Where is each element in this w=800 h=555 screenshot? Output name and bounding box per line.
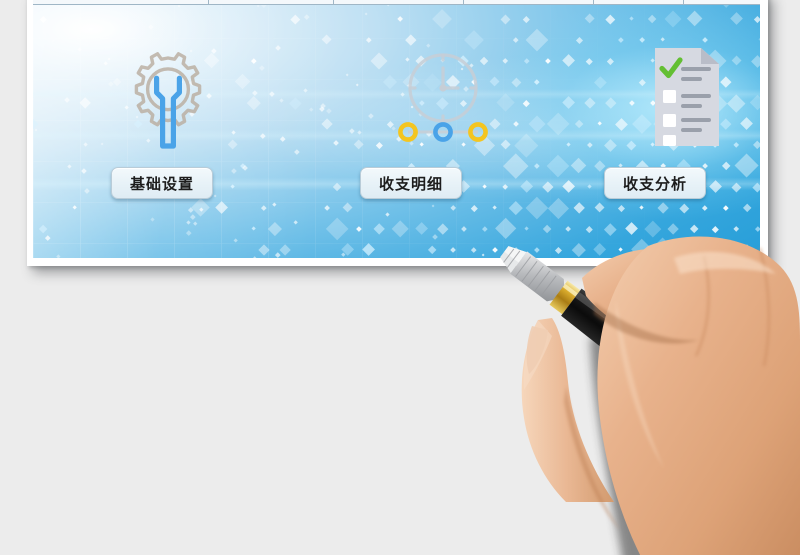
banner-card-inner: 基础设置 收支明细 收支分析 [33,0,760,258]
banner-button-basic-settings-label: 基础设置 [130,173,194,194]
banner-card: 基础设置 收支明细 收支分析 [27,0,768,266]
spreadsheet-row-sliver [33,0,760,5]
gear-wrench-icon [118,40,218,152]
checklist-document-icon [641,42,733,152]
banner-button-income-expense-detail-label: 收支明细 [379,173,443,194]
banner-button-basic-settings[interactable]: 基础设置 [111,167,213,199]
banner-button-income-expense-analysis-label: 收支分析 [623,173,687,194]
screenshot-root: 基础设置 收支明细 收支分析 [0,0,800,555]
banner-button-income-expense-analysis[interactable]: 收支分析 [604,167,706,199]
spreadsheet-column-divider [463,0,464,4]
spreadsheet-column-divider [333,0,334,4]
banner-button-income-expense-detail[interactable]: 收支明细 [360,167,462,199]
clock-timeline-icon [388,40,498,152]
spreadsheet-column-divider [593,0,594,4]
spreadsheet-column-divider [683,0,684,4]
spreadsheet-column-divider [208,0,209,4]
